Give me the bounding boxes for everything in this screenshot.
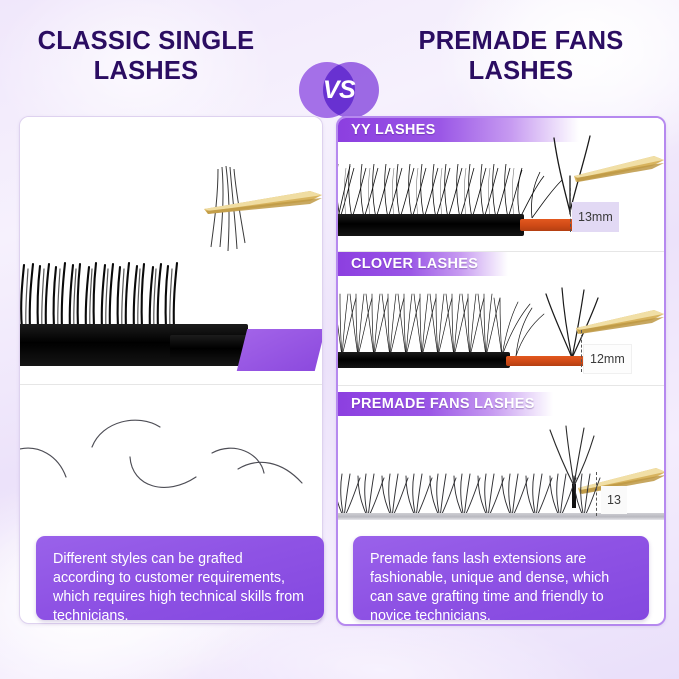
vs-label: VS	[299, 62, 379, 118]
premade-fans-lashes-tray: PREMADE FANS LASHES	[338, 386, 664, 536]
classic-lashes-caption: Different styles can be grafted accordin…	[36, 536, 324, 620]
clover-lashes-tray: CLOVER LASHES	[338, 252, 664, 386]
measurement-chip-yy: 13mm	[572, 202, 619, 232]
measurement-chip-clover: 12mm	[583, 344, 632, 374]
measurement-guide-line	[596, 472, 597, 516]
premade-fans-base-strip	[338, 513, 664, 520]
measurement-chip-premade: 13	[601, 486, 627, 514]
premade-fans-caption: Premade fans lash extensions are fashion…	[353, 536, 649, 620]
vs-badge: VS	[299, 62, 379, 118]
purple-tab	[237, 329, 322, 371]
measurement-label: 13	[607, 493, 621, 507]
section-banner-clover: CLOVER LASHES	[338, 252, 508, 276]
yy-lashes-tray: YY LASHES	[338, 118, 664, 252]
clover-orange-band	[506, 356, 588, 366]
header: CLASSIC SINGLE LASHES VS PREMADE FANS LA…	[0, 26, 679, 108]
classic-single-lashes-tray	[20, 117, 322, 385]
curved-lash-strands	[20, 393, 320, 523]
measurement-guide-line	[581, 330, 582, 372]
yy-strip-band	[338, 214, 524, 236]
comparison-infographic: CLASSIC SINGLE LASHES VS PREMADE FANS LA…	[0, 0, 679, 679]
section-banner-label: CLOVER LASHES	[338, 256, 478, 272]
loose-curved-single-lashes	[20, 385, 322, 535]
measurement-guide-line	[570, 188, 571, 232]
left-panel-title: CLASSIC SINGLE LASHES	[12, 26, 280, 86]
section-banner-premade: PREMADE FANS LASHES	[338, 392, 553, 416]
clover-strip-band	[338, 352, 510, 368]
right-panel-title: PREMADE FANS LASHES	[385, 26, 657, 86]
tweezers-with-lashes-icon	[198, 151, 322, 271]
section-banner-label: YY LASHES	[338, 122, 436, 138]
measurement-label: 12mm	[590, 352, 625, 366]
measurement-label: 13mm	[578, 210, 613, 224]
section-banner-label: PREMADE FANS LASHES	[338, 396, 535, 412]
